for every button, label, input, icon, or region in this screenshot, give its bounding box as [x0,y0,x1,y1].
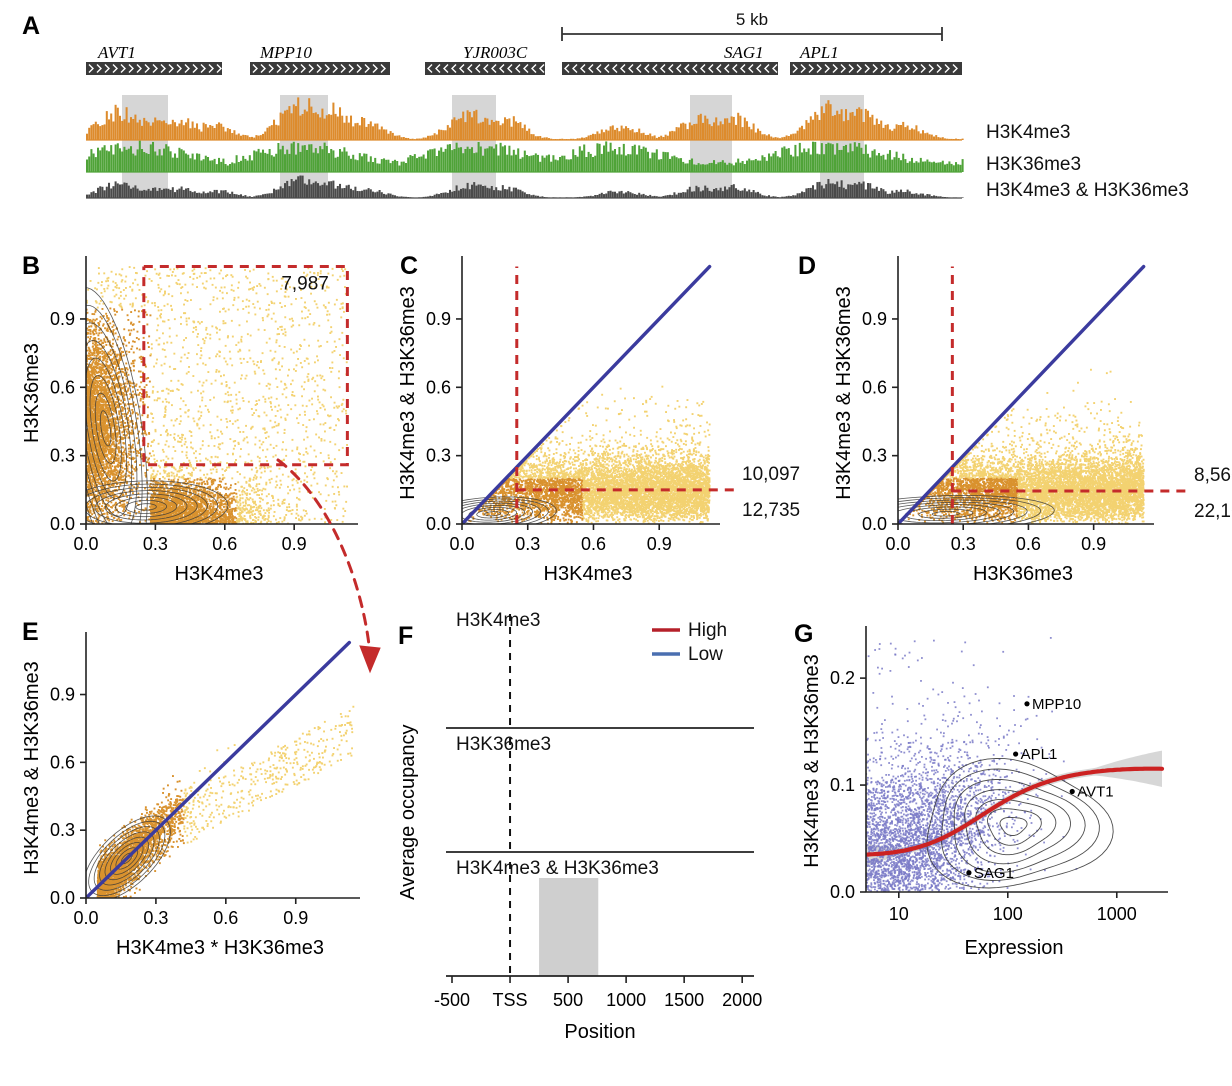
scatter-point [106,315,108,317]
occupancy-bar [390,131,392,140]
occupancy-bar [203,123,205,140]
scatter-point [266,342,268,344]
scatter-point [161,364,163,366]
scatter-point [328,494,330,496]
scatter-point [253,477,255,479]
scatter-point [256,507,258,509]
occupancy-bar [348,185,350,198]
occupancy-bar [310,144,312,172]
scatter-point [216,471,218,473]
scatter-point [158,287,160,289]
scatter-point [132,303,134,305]
scatter-point [89,329,91,331]
occupancy-bar [825,184,827,198]
occupancy-bar [614,192,616,198]
occupancy-bar [416,158,418,172]
scatter-point [110,365,112,367]
scatter-point [128,329,130,331]
scatter-point [139,349,141,351]
scatter-point [261,493,263,495]
occupancy-bar [214,128,216,140]
occupancy-bar [207,157,209,172]
occupancy-bar [759,161,761,172]
occupancy-bar [121,184,123,198]
occupancy-bar [825,144,827,172]
scatter-point [188,317,190,319]
scatter-point [239,349,241,351]
scatter-point [174,477,176,479]
occupancy-bar [161,121,163,140]
occupancy-bar [742,127,744,140]
scatter-point [237,287,239,289]
occupancy-bar [196,153,198,172]
occupancy-bar [907,163,909,172]
scatter-point [262,441,264,443]
scatter-point [299,348,301,350]
occupancy-bar [176,126,178,140]
occupancy-bar [530,134,532,140]
occupancy-bar [715,117,717,140]
occupancy-bar [502,185,504,198]
scatter-point [253,489,255,491]
occupancy-bar [251,160,253,172]
occupancy-bar [372,126,374,140]
occupancy-bar [788,148,790,172]
occupancy-bar [511,191,513,198]
scatter-point [183,339,185,341]
scatter-point [330,326,332,328]
occupancy-bar [601,130,603,141]
scatter-point [202,482,204,484]
occupancy-bar [616,128,618,140]
occupancy-bar [271,193,273,198]
occupancy-bar [427,151,429,173]
occupancy-bar [159,188,161,198]
occupancy-bar [453,149,455,172]
occupancy-bar [594,134,596,140]
scatter-point [240,339,242,341]
occupancy-bar [845,145,847,172]
occupancy-bar [181,149,183,172]
occupancy-bar [876,187,878,198]
occupancy-bar [172,187,174,198]
scatter-point [162,332,164,334]
scatter-point [115,273,117,275]
occupancy-bar [277,125,279,140]
occupancy-bar [363,118,365,140]
occupancy-bar [262,134,264,140]
scatter-point [150,353,152,355]
scatter-point [285,334,287,336]
occupancy-bar [198,154,200,172]
occupancy-bar [473,182,475,198]
occupancy-bar [746,161,748,172]
scatter-point [305,510,307,512]
occupancy-bar [621,191,623,198]
occupancy-bar [849,113,851,140]
scatter-point [254,371,256,373]
occupancy-bar [645,148,647,172]
scatter-point [212,468,214,470]
occupancy-bar [90,125,92,140]
occupancy-bar [519,190,521,198]
occupancy-bar [321,149,323,172]
occupancy-bar [733,184,735,198]
occupancy-bar [174,154,176,173]
occupancy-bar [370,121,372,140]
scatter-point [203,481,205,483]
occupancy-bar [559,157,561,172]
occupancy-bar [867,154,869,172]
scatter-point [221,287,223,289]
occupancy-bar [874,189,876,198]
occupancy-bar [156,156,158,173]
occupancy-bar [860,148,862,172]
scatter-point [233,492,235,494]
scatter-point [138,338,140,340]
scatter-point [132,340,134,342]
scatter-point [93,366,95,368]
occupancy-bar [819,120,821,140]
scatter-point [341,332,343,334]
occupancy-bar [830,184,832,199]
occupancy-bar [101,147,103,172]
scatter-point [209,338,211,340]
occupancy-bar [471,117,473,140]
occupancy-bar [962,159,964,172]
gene-label-yjr003c: YJR003C [463,43,528,62]
occupancy-bar [225,132,227,141]
occupancy-bar [346,116,348,140]
scatter-point [195,457,197,459]
occupancy-bar [812,185,814,198]
occupancy-bar [317,153,319,172]
scatter-point [279,369,281,371]
scatter-point [173,479,175,481]
scatter-point [307,491,309,493]
occupancy-bar [167,146,169,172]
scatter-point [106,454,108,456]
occupancy-bar [218,158,220,172]
occupancy-bar [381,192,383,198]
occupancy-bar [295,106,297,140]
scatter-point [296,417,298,419]
scatter-point [136,455,138,457]
occupancy-bar [618,131,620,140]
scatter-point [235,459,237,461]
occupancy-bar [280,113,282,140]
occupancy-bar [229,164,231,172]
scatter-point [169,327,171,329]
occupancy-bar [920,158,922,172]
scatter-point [329,467,331,469]
occupancy-bar [649,158,651,172]
occupancy-bar [669,131,671,140]
occupancy-bar [632,193,634,198]
occupancy-bar [335,114,337,140]
occupancy-bar [150,191,152,198]
occupancy-bar [328,181,330,198]
occupancy-bar [504,117,506,140]
occupancy-bar [134,185,136,198]
occupancy-bar [834,184,836,198]
occupancy-bar [836,111,838,140]
occupancy-bar [944,165,946,173]
occupancy-bar [471,147,473,172]
scatter-point [178,476,180,478]
scatter-point [282,393,284,395]
scatter-point [99,363,101,365]
scatter-point [217,416,219,418]
occupancy-bar [834,115,836,140]
scatter-point [334,341,336,343]
scatter-point [250,511,252,513]
occupancy-bar [365,190,367,199]
occupancy-bar [379,190,381,198]
occupancy-bar [720,121,722,140]
occupancy-bar [900,125,902,140]
scatter-point [343,311,345,313]
occupancy-bar [489,146,491,172]
occupancy-bar [845,189,847,198]
scatter-point [275,378,277,380]
occupancy-bar [797,193,799,198]
scatter-point [343,515,345,517]
occupancy-bar [403,162,405,172]
occupancy-bar [717,162,719,172]
scatter-point [146,324,148,326]
scatter-point [132,473,134,475]
scatter-point [225,493,227,495]
occupancy-bar [119,148,121,172]
occupancy-bar [627,154,629,172]
scatter-point [162,390,164,392]
scatter-point [254,373,256,375]
scatter-point [113,517,115,519]
scatter-point [299,453,301,455]
scatter-point [165,356,167,358]
occupancy-bar [152,142,154,172]
scatter-point [335,504,337,506]
occupancy-bar [612,125,614,140]
scatter-point [156,460,158,462]
scatter-point [280,416,282,418]
occupancy-bar [757,161,759,173]
scatter-point [281,365,283,367]
occupancy-bar [731,116,733,140]
occupancy-bar [863,122,865,140]
occupancy-bar [495,121,497,140]
occupancy-bar [449,128,451,140]
occupancy-bar [623,194,625,199]
scatter-point [149,506,151,508]
scatter-point [178,389,180,391]
occupancy-bar [891,160,893,172]
occupancy-bar [181,120,183,140]
occupancy-bar [893,129,895,140]
occupancy-bar [321,185,323,198]
occupancy-bar [493,190,495,198]
occupancy-bar [269,149,271,172]
scatter-point [324,390,326,392]
occupancy-bar [178,148,180,172]
occupancy-bar [143,152,145,172]
occupancy-bar [280,186,282,198]
occupancy-bar [130,146,132,172]
scatter-point [88,326,90,328]
scatter-point [309,323,311,325]
occupancy-bar [821,143,823,172]
scatter-point [195,329,197,331]
occupancy-bar [269,193,271,198]
scatter-point [168,446,170,448]
occupancy-bar [794,145,796,172]
occupancy-bar [216,164,218,172]
occupancy-bar [383,129,385,140]
occupancy-bar [183,125,185,140]
occupancy-bar [739,191,741,198]
occupancy-bar [112,186,114,198]
occupancy-bar [220,190,222,198]
scatter-point [242,494,244,496]
occupancy-bar [240,161,242,172]
scatter-point [130,311,132,313]
scatter-point [343,357,345,359]
occupancy-bar [236,155,238,172]
occupancy-bar [673,192,675,198]
occupancy-bar [260,153,262,172]
occupancy-bar [192,122,194,141]
scatter-point [292,391,294,393]
occupancy-bar [819,182,821,198]
occupancy-bar [656,149,658,172]
occupancy-bar [295,155,297,172]
scatter-point [289,489,291,491]
scatter-point [316,375,318,377]
scatter-point [275,481,277,483]
occupancy-bar [497,156,499,173]
scatter-point [142,401,144,403]
scatter-point [205,458,207,460]
occupancy-bar [467,147,469,172]
scatter-point [255,504,257,506]
scatter-point [345,501,347,503]
scatter-point [138,482,140,484]
occupancy-bar [284,183,286,198]
occupancy-bar [106,111,108,140]
occupancy-bar [209,125,211,140]
occupancy-bar [97,148,99,172]
scatter-point [241,341,243,343]
scatter-point [331,367,333,369]
scatter-point [291,318,293,320]
occupancy-bar [601,154,603,172]
occupancy-bar [689,187,691,198]
scatter-point [222,292,224,294]
scatter-point [264,470,266,472]
occupancy-bar [887,124,889,140]
highlight-band-0 [122,95,168,198]
occupancy-bar [222,127,224,140]
scatter-point [333,479,335,481]
occupancy-bar [456,185,458,198]
occupancy-bar [684,164,686,173]
occupancy-bar [88,157,90,173]
scatter-point [164,305,166,307]
scatter-point [109,395,111,397]
scatter-point [140,371,142,373]
scatter-point [291,303,293,305]
occupancy-bar [390,194,392,198]
occupancy-bar [869,158,871,173]
occupancy-bar [293,104,295,140]
scatter-point [187,410,189,412]
occupancy-bar [484,186,486,198]
scatter-point [219,478,221,480]
occupancy-bar [304,110,306,140]
occupancy-bar [205,193,207,198]
occupancy-bar [365,154,367,172]
occupancy-bar [249,155,251,172]
occupancy-bar [841,150,843,172]
scatter-point [248,453,250,455]
occupancy-bar [271,155,273,172]
occupancy-bar [231,133,233,140]
scatter-point [247,504,249,506]
occupancy-bar [491,186,493,198]
occupancy-bar [409,155,411,172]
scatter-point [201,272,203,274]
scatter-point [310,485,312,487]
occupancy-bar [500,191,502,198]
scatter-point [257,456,259,458]
occupancy-bar [216,124,218,140]
occupancy-bar [607,152,609,172]
occupancy-bar [442,130,444,140]
occupancy-bar [731,185,733,198]
scatter-point [346,444,348,446]
occupancy-bar [517,148,519,172]
occupancy-bar [425,159,427,172]
occupancy-bar [170,151,172,172]
occupancy-bar [860,184,862,199]
occupancy-bar [385,130,387,141]
occupancy-bar [728,187,730,198]
occupancy-bar [194,128,196,140]
occupancy-bar [805,152,807,172]
occupancy-bar [233,163,235,172]
occupancy-bar [471,185,473,198]
scatter-point [215,355,217,357]
occupancy-bar [137,189,139,198]
occupancy-bar [227,193,229,199]
occupancy-bar [123,147,125,172]
scatter-point [120,291,122,293]
occupancy-bar [669,159,671,172]
scatter-point [276,398,278,400]
occupancy-bar [119,116,121,140]
occupancy-bar [280,149,282,172]
occupancy-bar [282,188,284,198]
occupancy-bar [357,191,359,198]
occupancy-bar [660,159,662,172]
occupancy-bar [684,192,686,198]
occupancy-bar [442,152,444,172]
scatter-point [154,268,156,270]
scatter-point [186,457,188,459]
gene-label-apl1: APL1 [799,43,839,62]
occupancy-bar [896,190,898,198]
